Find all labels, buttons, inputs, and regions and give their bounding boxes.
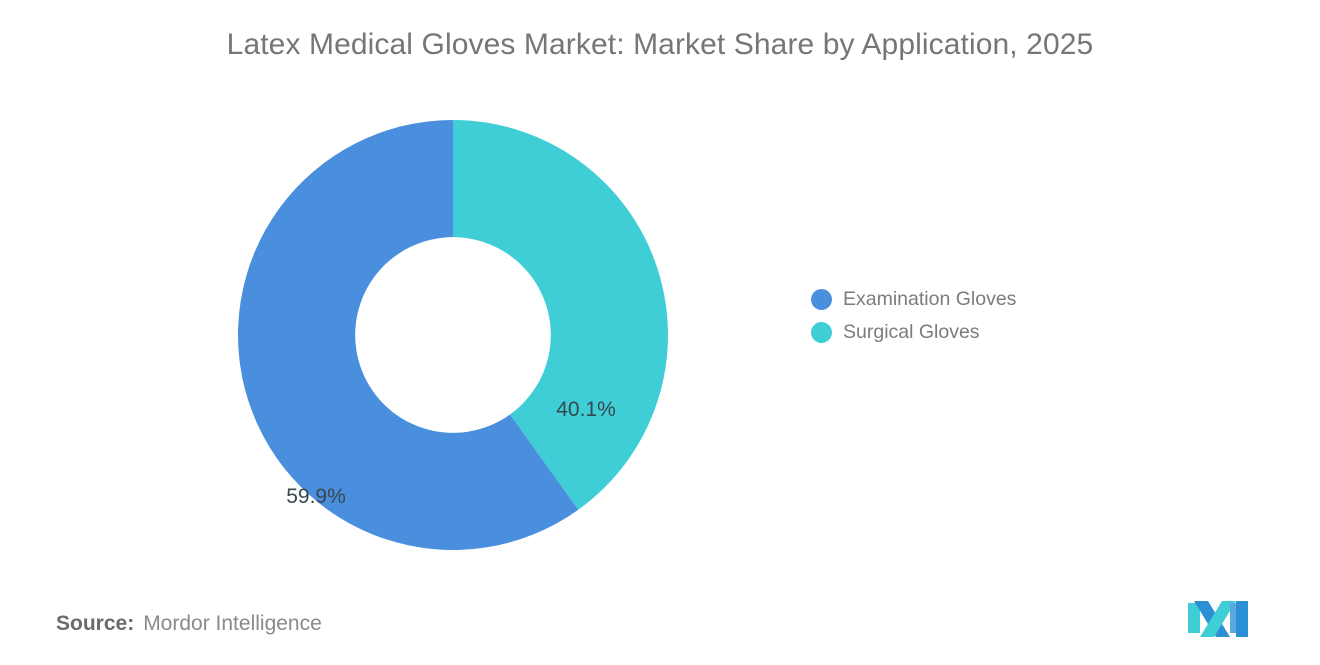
chart-page: Latex Medical Gloves Market: Market Shar… <box>0 0 1320 665</box>
legend-item-surgical-gloves[interactable]: Surgical Gloves <box>811 316 1111 349</box>
donut-chart: 40.1% 59.9% <box>238 117 668 553</box>
mordor-intelligence-logo-icon <box>1186 597 1254 639</box>
data-label-surgical-gloves: 40.1% <box>556 398 616 421</box>
source-label: Source: <box>56 612 134 636</box>
legend-swatch-icon-examination-gloves <box>811 289 832 310</box>
page-title: Latex Medical Gloves Market: Market Shar… <box>0 28 1320 62</box>
legend-swatch-icon-surgical-gloves <box>811 322 832 343</box>
legend-item-examination-gloves[interactable]: Examination Gloves <box>811 283 1111 316</box>
source-line: Source: Mordor Intelligence <box>56 612 322 636</box>
legend-label-examination-gloves: Examination Gloves <box>843 290 1016 310</box>
source-value: Mordor Intelligence <box>143 612 322 636</box>
data-label-examination-gloves: 59.9% <box>286 485 346 508</box>
donut-chart-svg: 40.1% 59.9% <box>238 117 668 553</box>
legend-label-surgical-gloves: Surgical Gloves <box>843 323 980 343</box>
logo-svg <box>1186 597 1254 639</box>
chart-legend: Examination Gloves Surgical Gloves <box>811 283 1111 349</box>
